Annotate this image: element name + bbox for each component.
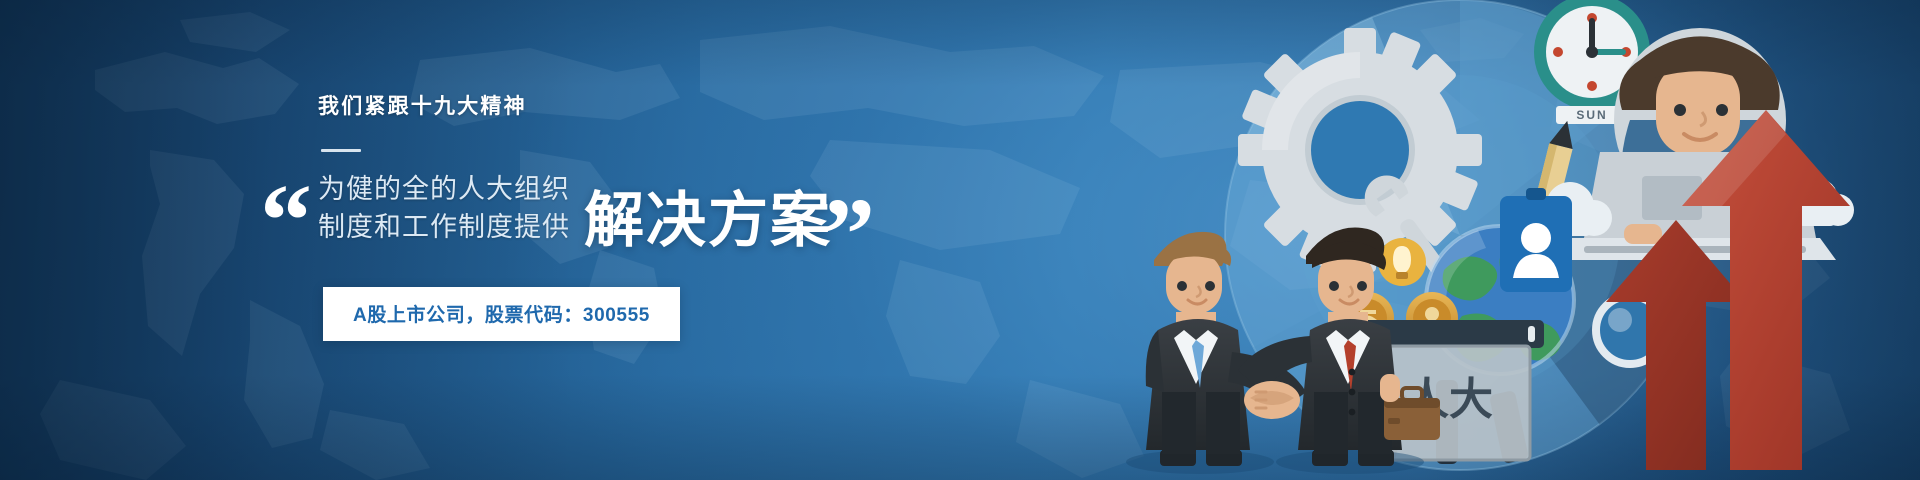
user-card-icon [1500,188,1572,292]
clasped-hands [1244,381,1300,419]
stock-code-badge[interactable]: A股上市公司，股票代码：300555 [323,287,680,341]
headline-text: 解决方案 [584,191,832,251]
subtitle-line-2: 制度和工作制度提供 [318,208,570,246]
divider-rule [321,149,361,152]
hero-copy-block: 我们紧跟十九大精神 “ 为健的全的人大组织 制度和工作制度提供 解决方案 ” A… [318,96,898,341]
eyebrow-text: 我们紧跟十九大精神 [318,96,898,117]
quote-close-icon: ” [823,198,871,273]
quote-open-icon: “ [260,184,308,259]
subtitle-line-1: 为健的全的人大组织 [318,170,570,208]
business-illustration: SUN [940,0,1920,480]
headline-row: “ 为健的全的人大组织 制度和工作制度提供 解决方案 ” [318,170,898,249]
hero-banner: SUN [0,0,1920,480]
subtitle-block: 为健的全的人大组织 制度和工作制度提供 [318,170,570,249]
svg-text:SUN: SUN [1576,108,1607,122]
